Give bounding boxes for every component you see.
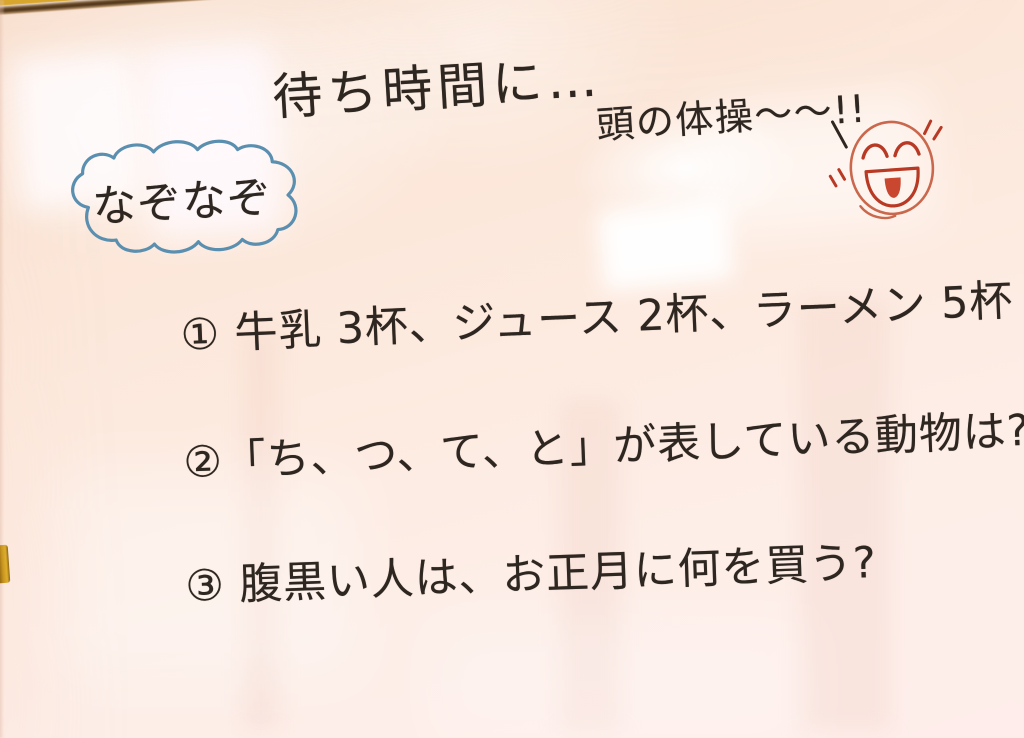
whiteboard-surface: 待ち時間に… 頭の体操〜〜!! なぞなぞ — [0, 0, 1024, 738]
whiteboard-photo: 待ち時間に… 頭の体操〜〜!! なぞなぞ — [0, 0, 1024, 738]
smiley-face-icon — [822, 108, 960, 233]
cloud-bubble-label: なぞなぞ — [90, 161, 273, 235]
whiteboard-left-frame — [0, 0, 4, 738]
